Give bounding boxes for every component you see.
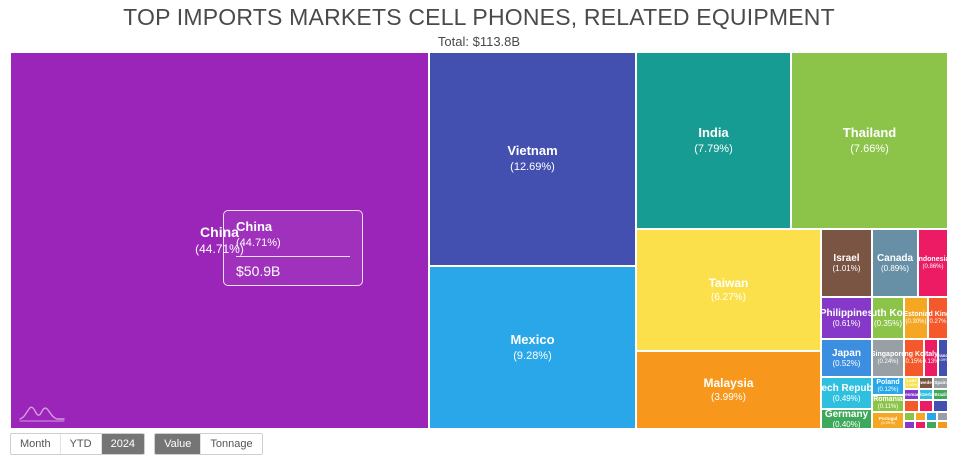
tile-percent: (0.27%) — [928, 319, 948, 326]
treemap-tile-thailand[interactable]: Thailand(7.66%) — [791, 52, 948, 229]
tile-label: Germany — [825, 409, 868, 420]
treemap-tile-laos[interactable]: Laos(0.08%) — [904, 377, 919, 389]
treemap-tile-austria[interactable]: Austria — [904, 400, 919, 412]
tile-label: Thailand — [843, 126, 896, 141]
tile-percent: (0.09%) — [938, 358, 948, 363]
tile-label: Israel — [833, 253, 859, 265]
treemap-tile-ireland[interactable]: Ireland — [919, 400, 933, 412]
treemap-tile-germany[interactable]: Germany(0.40%) — [821, 409, 872, 429]
treemap-tile-italy[interactable]: Italy(0.13%) — [924, 339, 938, 377]
treemap-tile-other[interactable]: Other — [937, 421, 948, 429]
treemap-tile-singapore[interactable]: Singapore(0.24%) — [872, 339, 904, 377]
treemap-tile-netherlands[interactable]: Netherlands — [904, 412, 915, 421]
treemap-tile-poland[interactable]: Poland(0.12%) — [872, 377, 904, 395]
treemap-tile-spain[interactable]: Spain — [933, 377, 948, 389]
treemap-tile-estonia[interactable]: Estonia(0.30%) — [904, 297, 928, 339]
tooltip-name: China — [236, 219, 350, 235]
treemap-tile-hong-kong[interactable]: Hong Kong(0.15%) — [904, 339, 924, 377]
tile-percent: (0.09%) — [881, 421, 895, 426]
treemap-tile-slovakia[interactable]: Slovakia — [915, 421, 926, 429]
tile-label: Brazil — [934, 392, 946, 397]
tile-percent: (0.40%) — [832, 420, 860, 429]
tile-label: Taiwan — [709, 277, 749, 291]
toolbar-button-2024[interactable]: 2024 — [102, 434, 144, 454]
tile-percent: (0.30%) — [905, 319, 926, 326]
treemap-tile-mexico[interactable]: Mexico(9.28%) — [429, 266, 636, 429]
treemap-tile-norway[interactable]: Norway — [904, 421, 915, 429]
tile-label: Poland — [876, 379, 899, 387]
treemap-tile-turkey[interactable]: Turkey — [933, 400, 948, 412]
chart-subtitle-total: Total: $113.8B — [0, 34, 958, 49]
treemap-tile-finland[interactable]: Finland — [937, 412, 948, 421]
toolbar: MonthYTD2024 ValueTonnage — [10, 433, 263, 455]
treemap-tile-united-kingdom[interactable]: United Kingdom(0.27%) — [928, 297, 948, 339]
measure-button-group[interactable]: ValueTonnage — [154, 433, 263, 455]
tile-label: South Korea — [872, 308, 904, 320]
treemap-tile-malaysia[interactable]: Malaysia(3.99%) — [636, 351, 821, 429]
page-title: TOP IMPORTS MARKETS CELL PHONES, RELATED… — [0, 4, 958, 31]
toolbar-button-value[interactable]: Value — [155, 434, 201, 454]
tile-label: Hong Kong — [904, 351, 924, 359]
tile-label: Spain — [934, 380, 946, 385]
tile-percent: (0.61%) — [832, 319, 860, 328]
tile-percent: (0.86%) — [922, 264, 943, 271]
tooltip-value: $50.9B — [236, 263, 350, 279]
tile-label: India — [698, 126, 728, 141]
tile-percent: (0.08%) — [905, 383, 919, 388]
treemap-tile-taiwan[interactable]: Taiwan(6.27%) — [636, 229, 821, 351]
tile-label: Malaysia — [703, 377, 753, 391]
tile-percent: (7.66%) — [850, 143, 889, 156]
tile-percent: (0.52%) — [832, 359, 860, 368]
tile-percent: (7.79%) — [694, 143, 733, 156]
tile-label: Mexico — [510, 333, 554, 348]
treemap-chart: OtherAustraliaSlovakiaNorwayFinlandHunga… — [10, 52, 948, 429]
treemap-tile-portugal[interactable]: Portugal(0.09%) — [872, 412, 904, 429]
mountain-logo-icon — [18, 401, 66, 423]
tile-label: Canada — [877, 253, 913, 265]
tile-percent: (0.12%) — [877, 387, 898, 394]
treemap-tile-vietnam[interactable]: Vietnam(12.69%) — [429, 52, 636, 266]
tooltip-percent: (44.71%) — [236, 237, 350, 249]
tile-label: Estonia — [904, 311, 928, 319]
tile-percent: (3.99%) — [711, 392, 746, 404]
tile-percent: (12.69%) — [510, 161, 555, 174]
tile-label: Switzerland — [919, 392, 933, 397]
treemap-tile-israel[interactable]: Israel(1.01%) — [821, 229, 872, 297]
treemap-tile-denmark[interactable]: Denmark — [904, 389, 919, 400]
tile-label: Indonesia — [918, 256, 948, 264]
tile-label: Philippines — [821, 308, 872, 320]
tile-label: Czech Republic — [821, 383, 872, 395]
tile-label: Vietnam — [507, 144, 557, 159]
tooltip-divider — [236, 256, 350, 257]
tooltip-china: China (44.71%) $50.9B — [223, 210, 363, 286]
treemap-tile-indonesia[interactable]: Indonesia(0.86%) — [918, 229, 948, 297]
tile-label: Japan — [832, 348, 861, 360]
tile-label: Romania — [873, 396, 903, 404]
tile-percent: (0.13%) — [924, 359, 938, 366]
treemap-tile-china[interactable]: China(44.71%) — [10, 52, 429, 429]
tile-percent: (9.28%) — [513, 350, 552, 363]
tile-percent: (0.15%) — [904, 359, 924, 366]
tile-percent: (1.01%) — [832, 264, 860, 273]
treemap-tile-brazil[interactable]: Brazil — [933, 389, 948, 400]
tile-label: Italy — [924, 351, 938, 359]
tile-percent: (0.35%) — [874, 319, 902, 328]
treemap-tile-canada[interactable]: Canada(0.89%) — [872, 229, 918, 297]
treemap-tile-philippines[interactable]: Philippines(0.61%) — [821, 297, 872, 339]
tile-percent: (0.24%) — [877, 359, 898, 366]
treemap-tile-czech-republic[interactable]: Czech Republic(0.49%) — [821, 377, 872, 409]
period-button-group[interactable]: MonthYTD2024 — [10, 433, 145, 455]
treemap-tile-france[interactable]: France(0.09%) — [938, 339, 948, 377]
tile-percent: (0.11%) — [878, 404, 899, 411]
tile-percent: (0.89%) — [881, 264, 909, 273]
tile-percent: (0.49%) — [832, 394, 860, 403]
treemap-tile-romania[interactable]: Romania(0.11%) — [872, 395, 904, 412]
tile-label: Sweden — [919, 380, 933, 385]
treemap-tile-south-korea[interactable]: South Korea(0.35%) — [872, 297, 904, 339]
toolbar-button-ytd[interactable]: YTD — [61, 434, 102, 454]
toolbar-button-tonnage[interactable]: Tonnage — [201, 434, 261, 454]
tile-percent: (6.27%) — [711, 292, 746, 304]
treemap-tile-switzerland[interactable]: Switzerland — [919, 389, 933, 400]
tile-label: United Kingdom — [928, 311, 948, 319]
treemap-tile-australia[interactable]: Australia — [926, 421, 937, 429]
treemap-tile-india[interactable]: India(7.79%) — [636, 52, 791, 229]
tile-label: Denmark — [904, 392, 919, 397]
treemap-tile-sweden[interactable]: Sweden — [919, 377, 933, 389]
treemap-tile-japan[interactable]: Japan(0.52%) — [821, 339, 872, 377]
treemap-tile-belgium[interactable]: Belgium — [915, 412, 926, 421]
toolbar-button-month[interactable]: Month — [11, 434, 61, 454]
tile-label: Singapore — [872, 351, 904, 359]
treemap-tile-hungary[interactable]: Hungary — [926, 412, 937, 421]
